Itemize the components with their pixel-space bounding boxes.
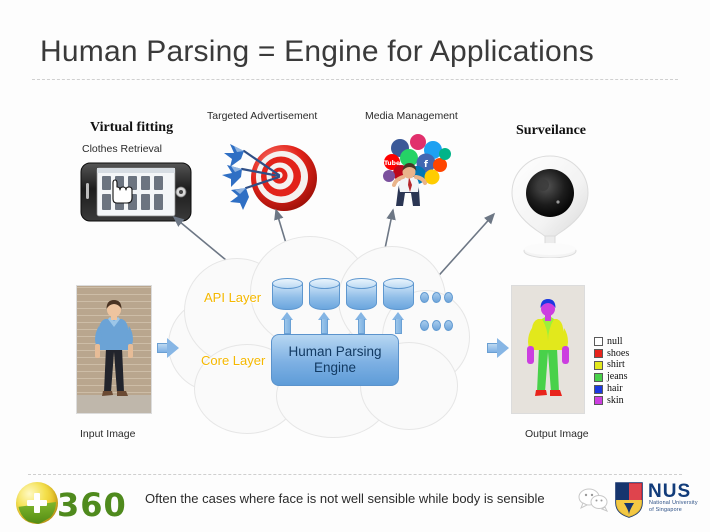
nus-crest-icon: [614, 481, 644, 519]
legend-swatch-skin: [594, 396, 603, 405]
legend-label: null: [607, 337, 623, 347]
api-cylinder: [309, 278, 340, 312]
output-flow-arrow: [487, 338, 509, 358]
legend-swatch-hair: [594, 385, 603, 394]
legend-swatch-jeans: [594, 373, 603, 382]
cloud-container: Human Parsing Engine API Layer Core Laye…: [168, 236, 468, 436]
legend-label: hair: [607, 384, 623, 394]
legend-label: shoes: [607, 349, 629, 359]
svg-text:Tube: Tube: [384, 160, 400, 167]
nus-logo: NUS National University of Singapore: [614, 479, 706, 521]
app-heading-targeted-advertisement: Targeted Advertisement: [207, 110, 317, 122]
flow-arrow-up: [392, 312, 405, 334]
app-heading-virtual-fitting: Virtual fitting: [90, 120, 173, 136]
ellipsis-dot: [420, 292, 429, 303]
legend-swatch-null: [594, 337, 603, 346]
app-heading-surveilance: Surveilance: [516, 123, 586, 139]
slide-canvas: Human Parsing = Engine for Applications …: [0, 0, 710, 532]
svg-text:f: f: [424, 160, 428, 170]
ellipsis-dot: [420, 320, 429, 331]
core-layer-label: Core Layer: [201, 353, 265, 368]
legend-swatch-shirt: [594, 361, 603, 370]
legend-item: null: [594, 336, 656, 348]
page-title: Human Parsing = Engine for Applications: [40, 35, 594, 69]
engine-label-line1: Human Parsing: [288, 344, 381, 360]
footer-divider: [28, 474, 682, 475]
input-image: [76, 285, 152, 414]
legend-label: jeans: [607, 372, 628, 382]
360-brand-text: 360: [57, 486, 127, 524]
api-cylinder: [383, 278, 414, 312]
input-image-caption: Input Image: [80, 428, 135, 440]
nus-subtitle: National University of Singapore: [649, 500, 698, 513]
app-subheading-clothes-retrieval: Clothes Retrieval: [82, 143, 162, 155]
flow-arrow-up: [281, 312, 294, 334]
legend-label: shirt: [607, 360, 625, 370]
api-layer-label: API Layer: [204, 290, 261, 305]
ellipsis-dot: [432, 292, 441, 303]
ellipsis-dot: [444, 292, 453, 303]
input-flow-arrow: [157, 338, 179, 358]
app-heading-media-management: Media Management: [365, 110, 458, 122]
legend-item: shoes: [594, 348, 656, 360]
flow-arrow-up: [318, 312, 331, 334]
ellipsis-dot: [432, 320, 441, 331]
engine-label-line2: Engine: [288, 360, 381, 376]
ellipsis-dot: [444, 320, 453, 331]
footer-caption: Often the cases where face is not well s…: [145, 491, 545, 506]
flow-arrow-up: [355, 312, 368, 334]
360-logo-icon: [16, 482, 58, 524]
output-image-caption: Output Image: [525, 428, 589, 440]
legend-item: shirt: [594, 360, 656, 372]
wechat-icon: [578, 487, 608, 513]
legend-item: jeans: [594, 371, 656, 383]
legend-swatch-shoes: [594, 349, 603, 358]
title-divider: [32, 79, 678, 80]
legend-item: skin: [594, 395, 656, 407]
legend-label: skin: [607, 396, 624, 406]
segmentation-legend: null shoes shirt jeans hair skin: [594, 336, 656, 407]
api-cylinder: [346, 278, 377, 312]
human-parsing-engine-box: Human Parsing Engine: [271, 334, 399, 386]
legend-item: hair: [594, 383, 656, 395]
api-cylinder: [272, 278, 303, 312]
output-image: [511, 285, 585, 414]
